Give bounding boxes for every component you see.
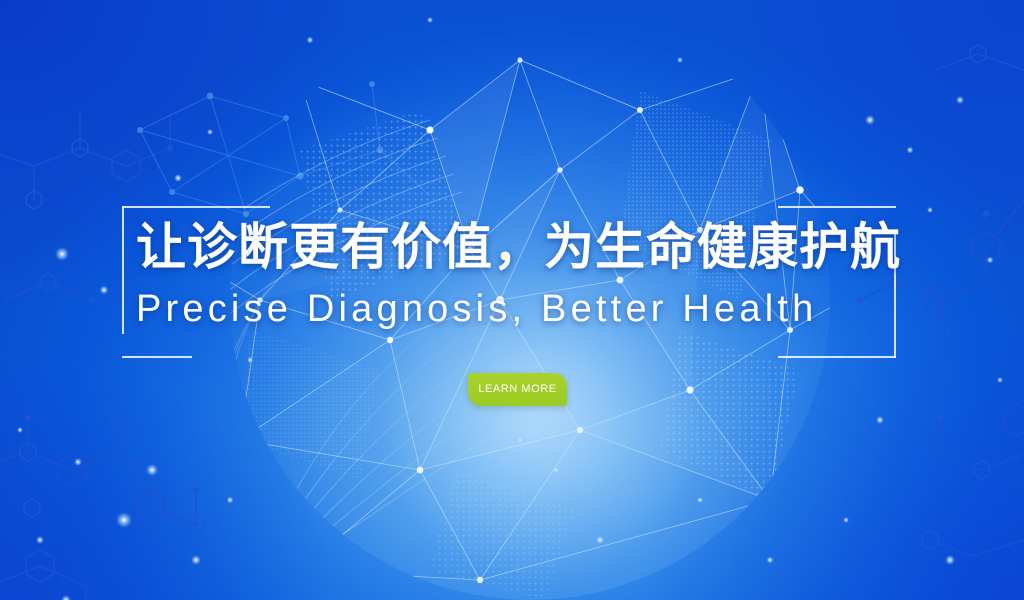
frame-top-left-vertical [122, 206, 124, 334]
frame-top-left-horizontal [122, 206, 270, 208]
learn-more-button[interactable]: LEARN MORE [468, 373, 567, 406]
hero-banner: 让诊断更有价值，为生命健康护航 Precise Diagnosis, Bette… [0, 0, 1024, 600]
headline-english: Precise Diagnosis, Better Health [136, 290, 896, 328]
frame-top-right-horizontal [778, 206, 896, 208]
frame-bottom-right-horizontal [778, 356, 896, 358]
headline-chinese: 让诊断更有价值，为生命健康护航 [136, 222, 896, 272]
frame-bottom-left-horizontal [122, 356, 192, 358]
hero-content: 让诊断更有价值，为生命健康护航 Precise Diagnosis, Bette… [122, 206, 896, 358]
